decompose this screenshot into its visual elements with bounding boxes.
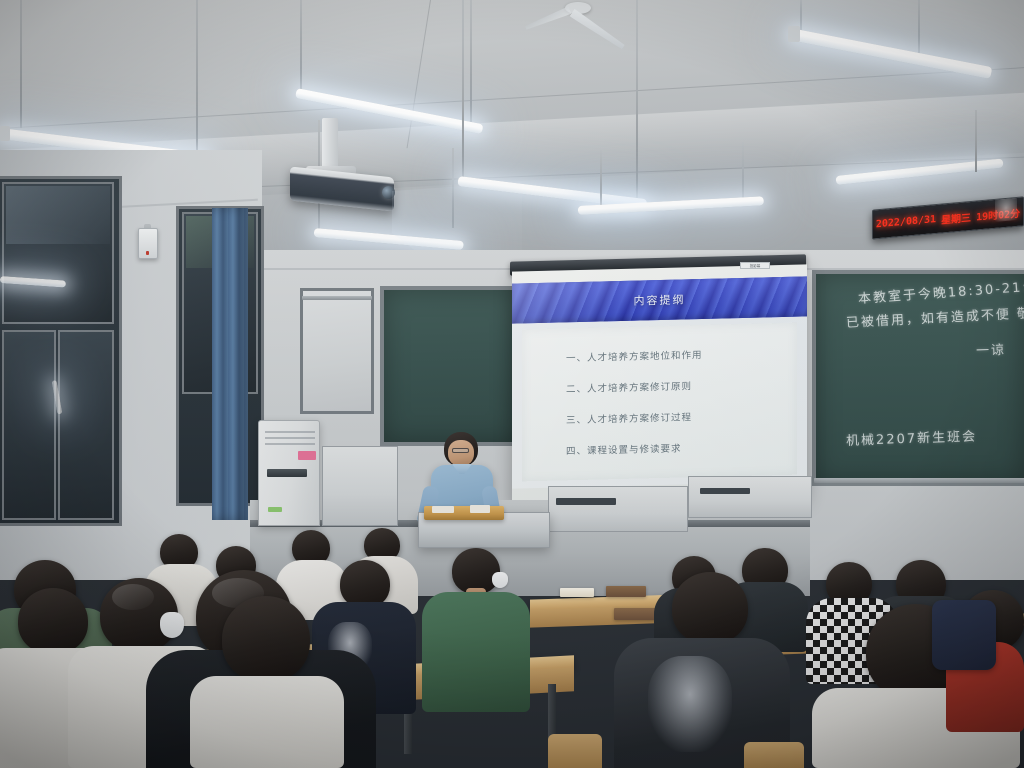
light-rod bbox=[470, 0, 472, 122]
instructor-glasses bbox=[452, 448, 469, 453]
face-mask bbox=[160, 612, 184, 638]
chair-back bbox=[744, 742, 804, 768]
slide-item: 四、课程设置与修读要求 bbox=[566, 438, 797, 458]
light-rod bbox=[452, 148, 454, 228]
light-rod bbox=[742, 142, 744, 204]
window-pane bbox=[2, 330, 56, 520]
slide-item: 二、人才培养方案修订原则 bbox=[566, 376, 797, 396]
light-rod bbox=[600, 150, 602, 208]
light-rod bbox=[918, 0, 920, 58]
book bbox=[614, 608, 658, 620]
air-conditioner bbox=[258, 420, 320, 526]
blackboard-rail bbox=[814, 478, 1024, 483]
light-rod bbox=[975, 110, 977, 172]
clock-date: 2022/08/31 bbox=[876, 214, 936, 230]
student-torso-white bbox=[190, 676, 344, 768]
classroom-photo: 本教室于今晚18:30-21:00 已被借用，如有造成不便 敬请 一谅 机械22… bbox=[0, 0, 1024, 768]
projector-lens bbox=[382, 186, 395, 199]
lectern-papers bbox=[432, 506, 454, 513]
book bbox=[606, 586, 646, 597]
slide-item: 三、人才培养方案修订过程 bbox=[566, 407, 797, 427]
shirt-graphic bbox=[648, 656, 732, 752]
light-cap bbox=[0, 126, 10, 141]
front-cabinet bbox=[688, 476, 812, 518]
ac-vent bbox=[267, 469, 307, 477]
light-rod bbox=[196, 0, 198, 150]
projector-mount bbox=[322, 118, 338, 170]
hair-highlight bbox=[112, 584, 154, 610]
slide-outline-list: 一、人才培养方案地位和作用 二、人才培养方案修订原则 三、人才培养方案修订过程 … bbox=[522, 323, 797, 482]
light-rod bbox=[636, 0, 638, 198]
light-rod bbox=[800, 0, 802, 30]
whiteboard-panel bbox=[300, 288, 374, 414]
slide-banner: 内容提纲 bbox=[512, 276, 807, 323]
whiteboard-rail bbox=[302, 296, 372, 300]
backpack bbox=[932, 600, 996, 670]
light-rod bbox=[462, 0, 464, 178]
chalk-line-3: 一谅 bbox=[976, 339, 1007, 359]
clock-weekday: 星期三 bbox=[941, 208, 971, 226]
face-mask bbox=[492, 572, 508, 588]
slide-title: 内容提纲 bbox=[634, 291, 686, 308]
front-cabinet bbox=[322, 446, 398, 526]
light-rod bbox=[300, 0, 302, 90]
clock-glare bbox=[995, 196, 1017, 222]
student-torso-green bbox=[422, 592, 530, 712]
book bbox=[560, 588, 594, 597]
blackboard-left bbox=[380, 286, 520, 446]
ac-sticker bbox=[268, 507, 282, 512]
student-head bbox=[340, 560, 390, 608]
student-head bbox=[222, 596, 310, 682]
front-cabinet bbox=[548, 486, 688, 532]
instructor-face bbox=[448, 440, 474, 466]
ac-label bbox=[298, 451, 316, 460]
student-head bbox=[18, 588, 88, 654]
ac-louver bbox=[265, 431, 315, 433]
chair-back bbox=[548, 734, 602, 768]
window-curtain bbox=[212, 208, 248, 520]
window-pane bbox=[58, 330, 114, 520]
lectern-papers bbox=[470, 505, 490, 513]
light-rod bbox=[20, 0, 22, 128]
slide-item: 一、人才培养方案地位和作用 bbox=[566, 345, 797, 365]
student-head bbox=[672, 572, 748, 644]
window-light bbox=[6, 186, 110, 244]
ac-louver bbox=[265, 443, 315, 445]
cabinet-slot bbox=[700, 488, 750, 494]
ac-louver bbox=[265, 437, 315, 439]
speaker-indicator bbox=[146, 251, 149, 255]
cabinet-slot bbox=[556, 498, 616, 505]
screen-label: 投影幕 bbox=[740, 262, 770, 269]
light-cap bbox=[788, 26, 800, 42]
presentation-slide: 内容提纲 一、人才培养方案地位和作用 二、人才培养方案修订原则 三、人才培养方案… bbox=[512, 276, 807, 488]
projection-screen: 内容提纲 一、人才培养方案地位和作用 二、人才培养方案修订原则 三、人才培养方案… bbox=[512, 264, 807, 503]
